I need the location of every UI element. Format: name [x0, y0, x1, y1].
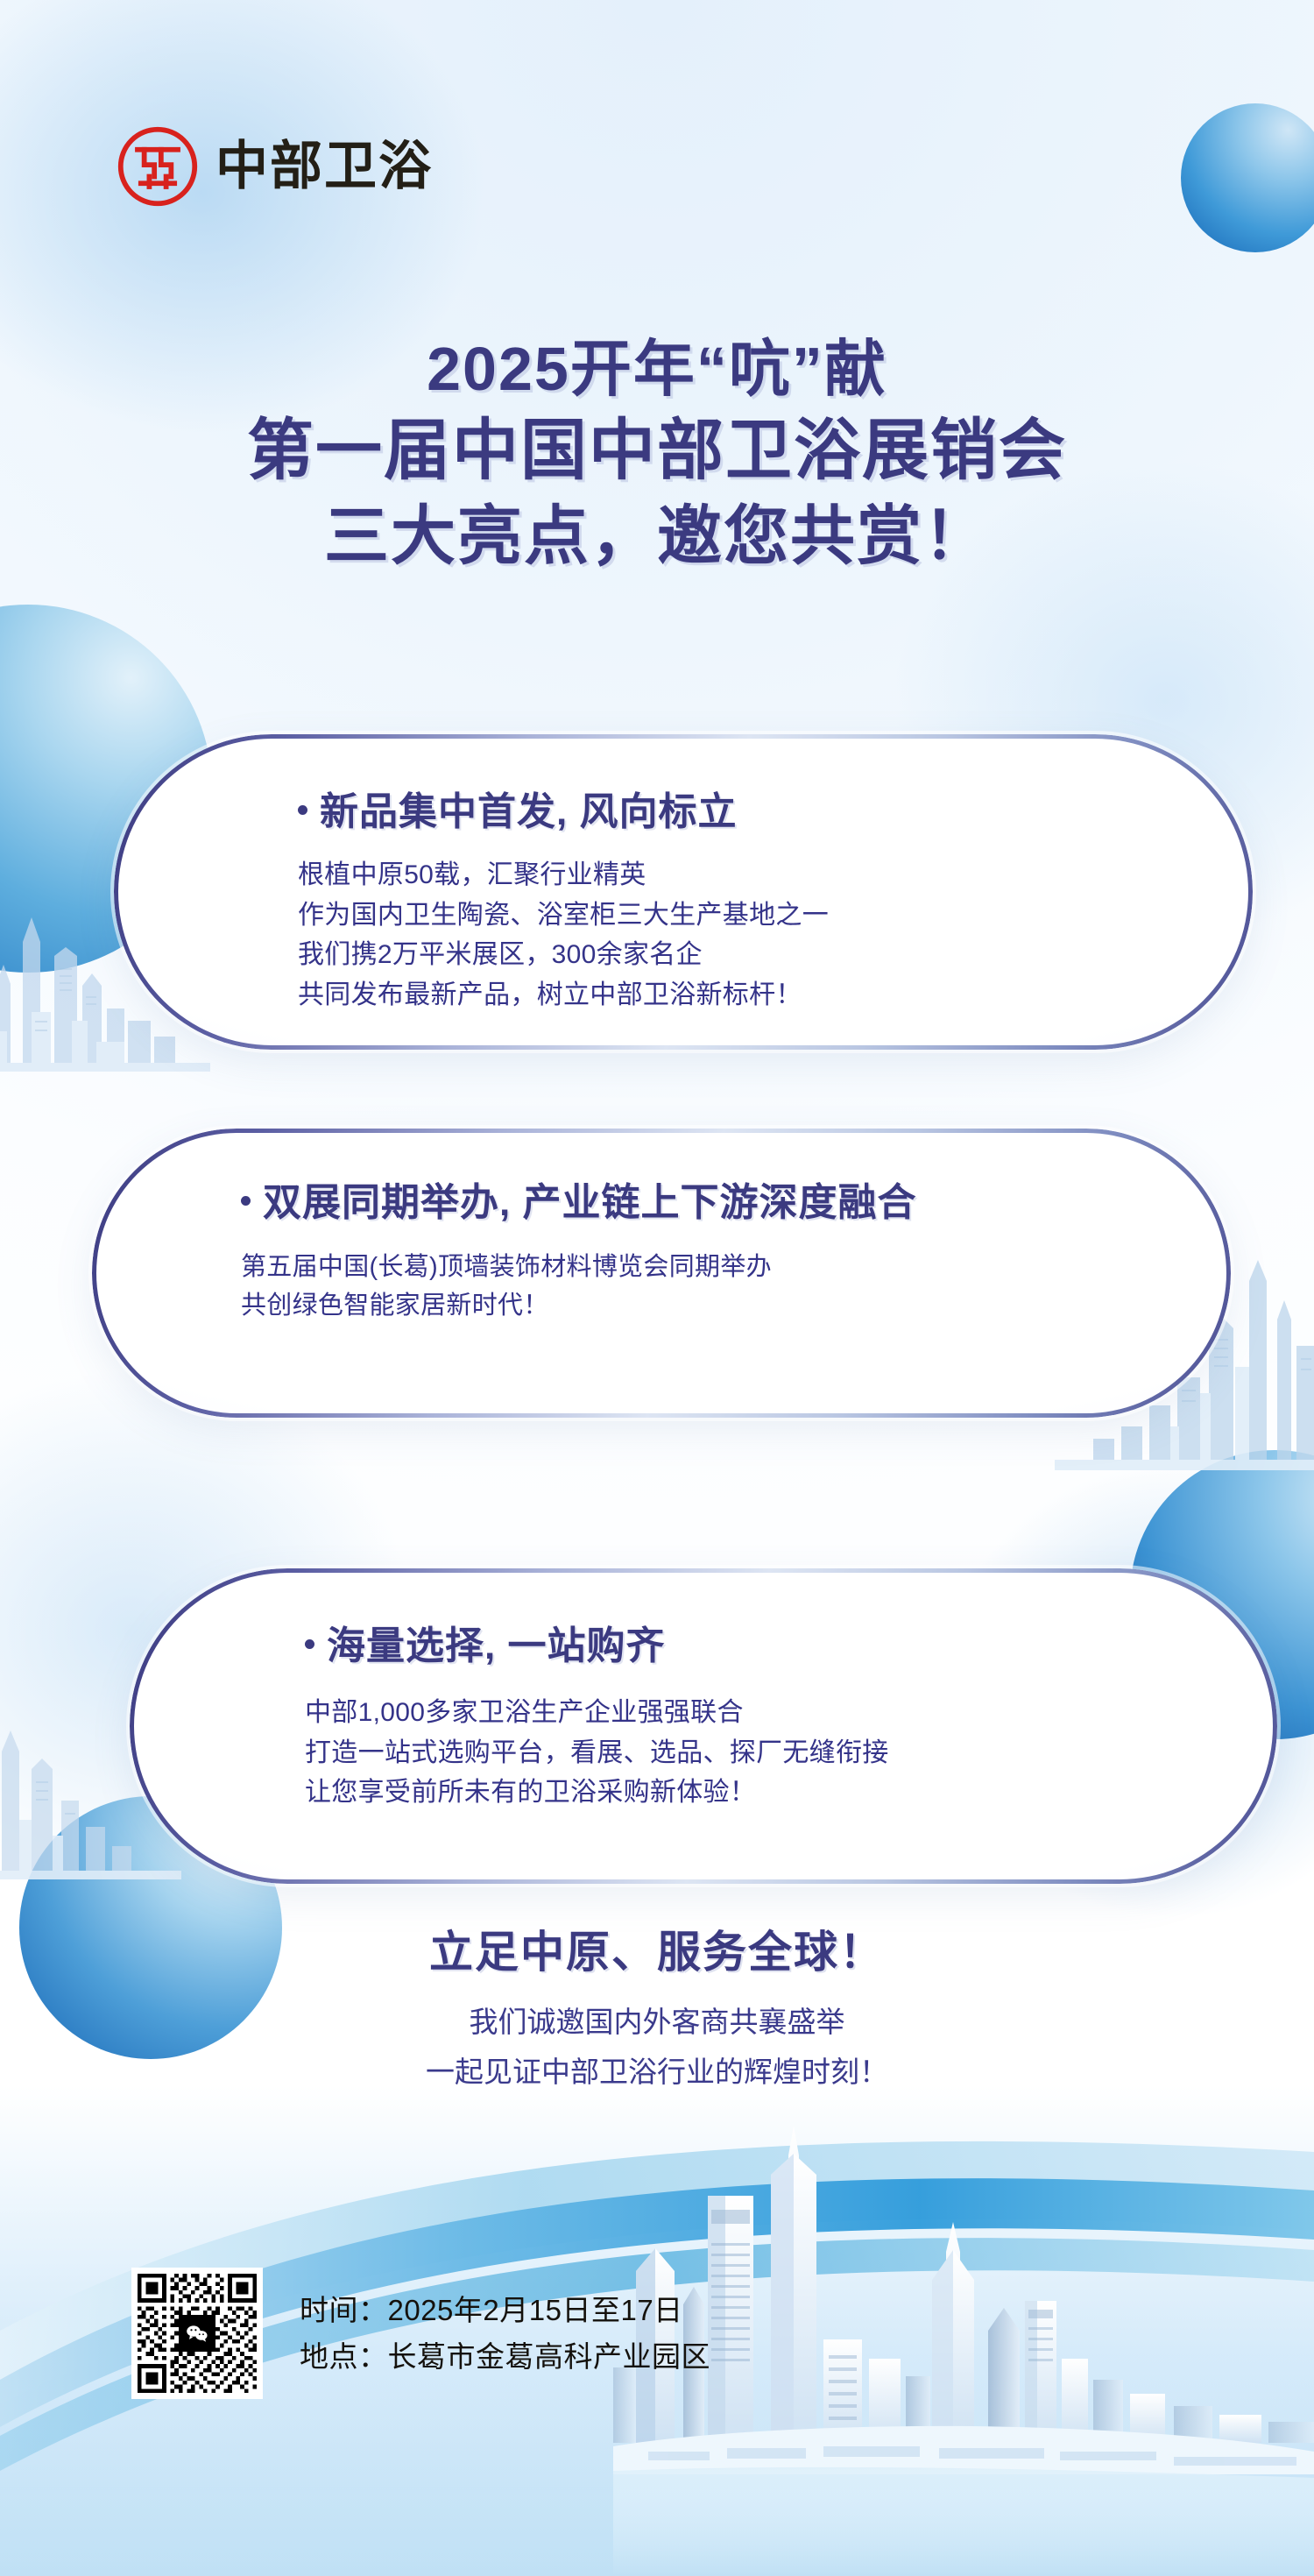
feature-card-3-title: 海量选择, 一站购齐: [305, 1614, 1277, 1670]
feature-card-2-body: 第五届中国(长葛)顶墙装饰材料博览会同期举办 共创绿色智能家居新时代！: [241, 1248, 1231, 1325]
bullet-dot-icon: [298, 805, 307, 815]
bullet-dot-icon: [241, 1196, 251, 1206]
city-skyline-icon: [613, 2120, 1314, 2576]
closing-line-1: 我们诚邀国内外客商共襄盛举: [0, 1999, 1314, 2046]
feature-card-2-title: 双展同期举办, 产业链上下游深度融合: [241, 1171, 1231, 1227]
event-time-value: 2025年2月15日至17日: [388, 2294, 683, 2326]
feature-card-3-title-text: 海量选择, 一站购齐: [327, 1614, 665, 1670]
event-time-label: 时间：: [300, 2294, 388, 2326]
event-place-label: 地点：: [300, 2340, 388, 2373]
feature-card-2-title-text: 双展同期举办, 产业链上下游深度融合: [263, 1171, 916, 1227]
headline-line-1: 2025开年“吭”献: [0, 333, 1314, 406]
feature-card-3-body: 中部1,000多家卫浴生产企业强强联合 打造一站式选购平台，看展、选品、探厂无缝…: [305, 1693, 1277, 1813]
footer: 时间：2025年2月15日至17日 地点：长葛市金葛高科产业园区: [131, 2268, 710, 2399]
event-place-value: 长葛市金葛高科产业园区: [388, 2340, 711, 2373]
event-time-row: 时间：2025年2月15日至17日: [300, 2287, 710, 2333]
wechat-qr-code-icon[interactable]: [131, 2268, 263, 2399]
bullet-dot-icon: [305, 1639, 314, 1649]
brand-name: 中部卫浴: [215, 140, 433, 193]
event-place-row: 地点：长葛市金葛高科产业园区: [300, 2333, 710, 2380]
feature-card-1-title-text: 新品集中首发, 风向标立: [320, 780, 737, 836]
closing-title: 立足中原、服务全球！: [0, 1917, 1314, 1980]
poster-root: 中部卫浴 2025开年“吭”献 第一届中国中部卫浴展销会 三大亮点，邀您共赏！ …: [0, 0, 1314, 2576]
blue-sphere-top-right: [1181, 103, 1314, 252]
feature-card-3: 海量选择, 一站购齐 中部1,000多家卫浴生产企业强强联合 打造一站式选购平台…: [130, 1568, 1277, 1884]
brand-logo: 中部卫浴: [116, 124, 433, 209]
event-details: 时间：2025年2月15日至17日 地点：长葛市金葛高科产业园区: [300, 2287, 710, 2381]
closing-block: 立足中原、服务全球！ 我们诚邀国内外客商共襄盛举 一起见证中部卫浴行业的辉煌时刻…: [0, 1917, 1314, 2096]
feature-card-1-body: 根植中原50载，汇聚行业精英 作为国内卫生陶瓷、浴室柜三大生产基地之一 我们携2…: [298, 855, 1253, 1015]
feature-card-2: 双展同期举办, 产业链上下游深度融合 第五届中国(长葛)顶墙装饰材料博览会同期举…: [92, 1129, 1231, 1418]
feature-card-1: 新品集中首发, 风向标立 根植中原50载，汇聚行业精英 作为国内卫生陶瓷、浴室柜…: [114, 734, 1253, 1050]
headline-line-3: 三大亮点，邀您共赏！: [0, 497, 1314, 576]
circular-seal-logo-icon: [116, 124, 200, 209]
page-title: 2025开年“吭”献 第一届中国中部卫浴展销会 三大亮点，邀您共赏！: [0, 333, 1314, 577]
headline-line-2: 第一届中国中部卫浴展销会: [0, 411, 1314, 492]
wechat-logo-icon: [179, 2315, 215, 2352]
feature-card-1-title: 新品集中首发, 风向标立: [298, 780, 1253, 836]
closing-line-2: 一起见证中部卫浴行业的辉煌时刻！: [0, 2049, 1314, 2096]
